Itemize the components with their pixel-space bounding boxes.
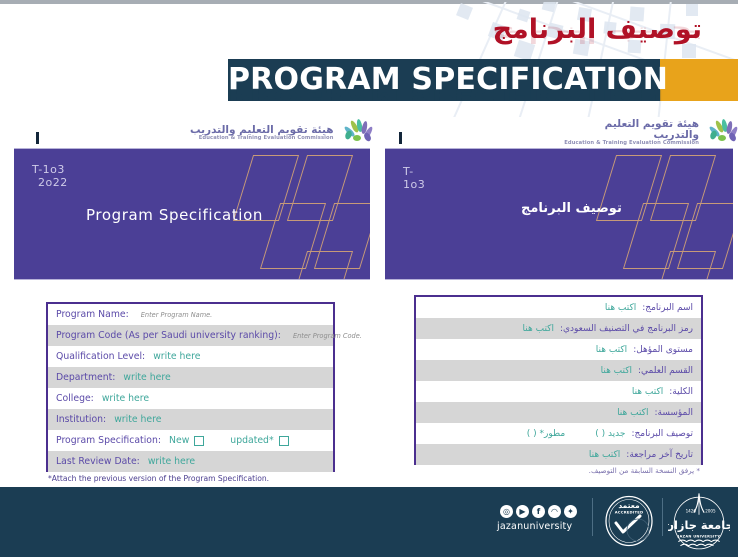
university-name-arabic: جامعة جازان: [668, 518, 730, 532]
row-value[interactable]: اكتب هنا: [617, 408, 648, 418]
row-label: Department:: [56, 372, 115, 383]
table-row[interactable]: Last Review Date: write here: [48, 451, 333, 472]
row-value[interactable]: اكتب هنا: [589, 450, 620, 460]
row-label: تاريخ آخر مراجعة:: [626, 450, 693, 460]
footer-divider-2: [662, 498, 663, 536]
table-row[interactable]: College: write here: [48, 388, 333, 409]
cover-card-arabic: T- 1o3 توصيف البرنامج: [385, 148, 733, 280]
social-handle: jazanuniversity: [497, 521, 572, 532]
form-table-arabic: اسم البرنامج: اكتب هنا رمز البرنامج في ا…: [414, 295, 703, 465]
card-code-right-line2: 1o3: [403, 178, 425, 191]
etec-name-english-left: Education & Training Evaluation Commissi…: [190, 136, 334, 141]
footnote-english: *Attach the previous version of the Prog…: [48, 474, 269, 483]
etec-name-arabic-right: هيئة تقويم التعليم والتدريب: [560, 119, 699, 141]
checkbox-new[interactable]: [194, 436, 204, 446]
table-row[interactable]: الكلية: اكتب هنا: [416, 381, 701, 402]
row-value[interactable]: اكتب هنا: [632, 387, 663, 397]
footnote-arabic: * يرفق النسخة السابقة من التوصيف.: [589, 466, 700, 475]
row-label: المؤسسة:: [654, 408, 693, 418]
row-value[interactable]: write here: [114, 414, 161, 425]
social-icons-group: ◎ ▶ f ◠ ✦: [500, 505, 577, 518]
card-title-right: توصيف البرنامج: [521, 201, 622, 216]
table-row[interactable]: اسم البرنامج: اكتب هنا: [416, 297, 701, 318]
table-row[interactable]: مستوى المؤهل: اكتب هنا: [416, 339, 701, 360]
row-label: Institution:: [56, 414, 106, 425]
row-value[interactable]: اكتب هنا: [605, 303, 636, 313]
footer-divider-1: [592, 498, 593, 536]
accreditation-seal: معتمد ACCREDITED: [604, 495, 654, 547]
card-code-left: T-1o3: [32, 163, 65, 176]
row-value[interactable]: write here: [102, 393, 149, 404]
youtube-icon[interactable]: ▶: [516, 505, 529, 518]
slide-root: توصيف البرنامج توصيف البرنامج PROGRAM SP…: [0, 0, 738, 557]
row-label: القسم العلمي:: [638, 366, 693, 376]
svg-text:1426: 1426: [686, 509, 697, 514]
row-label: College:: [56, 393, 94, 404]
etec-name-english-right: Education & Training Evaluation Commissi…: [560, 141, 699, 146]
row-label: الكلية:: [669, 387, 693, 397]
row-value[interactable]: اكتب هنا: [596, 345, 627, 355]
row-label: Program Specification:: [56, 435, 161, 446]
table-row[interactable]: المؤسسة: اكتب هنا: [416, 402, 701, 423]
row-value[interactable]: اكتب هنا: [523, 324, 554, 334]
etec-logo-right: هيئة تقويم التعليم والتدريب Education & …: [560, 118, 738, 148]
row-value[interactable]: اكتب هنا: [601, 366, 632, 376]
tick-mark-left: [36, 132, 39, 144]
header-title-arabic-reflection: توصيف البرنامج: [493, 26, 702, 46]
instagram-icon[interactable]: ◎: [500, 505, 513, 518]
svg-text:2005: 2005: [705, 509, 716, 514]
radio-label-new[interactable]: جديد ( ): [595, 429, 625, 439]
table-row[interactable]: Program Specification: New updated*: [48, 430, 333, 451]
table-row[interactable]: توصيف البرنامج: جديد ( ) مطور* ( ): [416, 423, 701, 444]
card-title-left: Program Specification: [86, 206, 263, 224]
table-row[interactable]: القسم العلمي: اكتب هنا: [416, 360, 701, 381]
row-label: Qualification Level:: [56, 351, 145, 362]
row-label: توصيف البرنامج:: [631, 429, 693, 439]
table-row[interactable]: Department: write here: [48, 367, 333, 388]
etec-leaf-icon-left: [339, 120, 373, 146]
twitter-icon[interactable]: ✦: [564, 505, 577, 518]
seal-label-arabic: معتمد: [618, 501, 640, 510]
card-year-left: 2o22: [38, 176, 68, 189]
form-table-english: Program Name: Enter Program Name. Progra…: [46, 302, 335, 472]
table-row[interactable]: تاريخ آخر مراجعة: اكتب هنا: [416, 444, 701, 465]
facebook-icon[interactable]: f: [532, 505, 545, 518]
university-name-english: JAZAN UNIVERSITY: [677, 535, 720, 539]
radio-label-updated[interactable]: مطور* ( ): [527, 429, 565, 439]
jazan-university-logo: 1426 2005 جامعة جازان JAZAN UNIVERSITY: [668, 492, 730, 552]
card-code-right-line1: T-: [403, 165, 414, 178]
table-row[interactable]: Institution: write here: [48, 409, 333, 430]
snapchat-icon[interactable]: ◠: [548, 505, 561, 518]
checkbox-label-new: New: [169, 435, 189, 446]
row-label: اسم البرنامج:: [642, 303, 693, 313]
checkbox-updated[interactable]: [279, 436, 289, 446]
row-value[interactable]: write here: [148, 456, 195, 467]
seal-label-english: ACCREDITED: [615, 511, 644, 515]
row-placeholder: Enter Program Code.: [293, 332, 362, 340]
row-label: مستوى المؤهل:: [633, 345, 693, 355]
row-label: رمز البرنامج في التصنيف السعودي:: [560, 324, 693, 334]
row-label: Last Review Date:: [56, 456, 140, 467]
table-row[interactable]: Program Name: Enter Program Name.: [48, 304, 333, 325]
row-value[interactable]: write here: [153, 351, 200, 362]
cover-card-english: T-1o3 2o22 Program Specification: [14, 148, 370, 280]
tick-mark-right: [399, 132, 402, 144]
table-row[interactable]: رمز البرنامج في التصنيف السعودي: اكتب هن…: [416, 318, 701, 339]
deanship-title: عمادة التطوير الأكاديمي: [22, 20, 283, 45]
checkbox-label-updated: updated*: [230, 435, 273, 446]
etec-logo-left: هيئة تقويم التعليم والتدريب Education & …: [190, 118, 373, 148]
row-label: Program Name:: [56, 309, 129, 320]
row-placeholder: Enter Program Name.: [141, 311, 213, 319]
table-row[interactable]: Program Code (As per Saudi university ra…: [48, 325, 333, 346]
table-row[interactable]: Qualification Level: write here: [48, 346, 333, 367]
row-label: Program Code (As per Saudi university ra…: [56, 330, 281, 341]
header-title-english-reflection: PROGRAM SPECIFICATION: [228, 89, 728, 101]
etec-leaf-icon-right: [704, 120, 738, 146]
row-value[interactable]: write here: [123, 372, 170, 383]
